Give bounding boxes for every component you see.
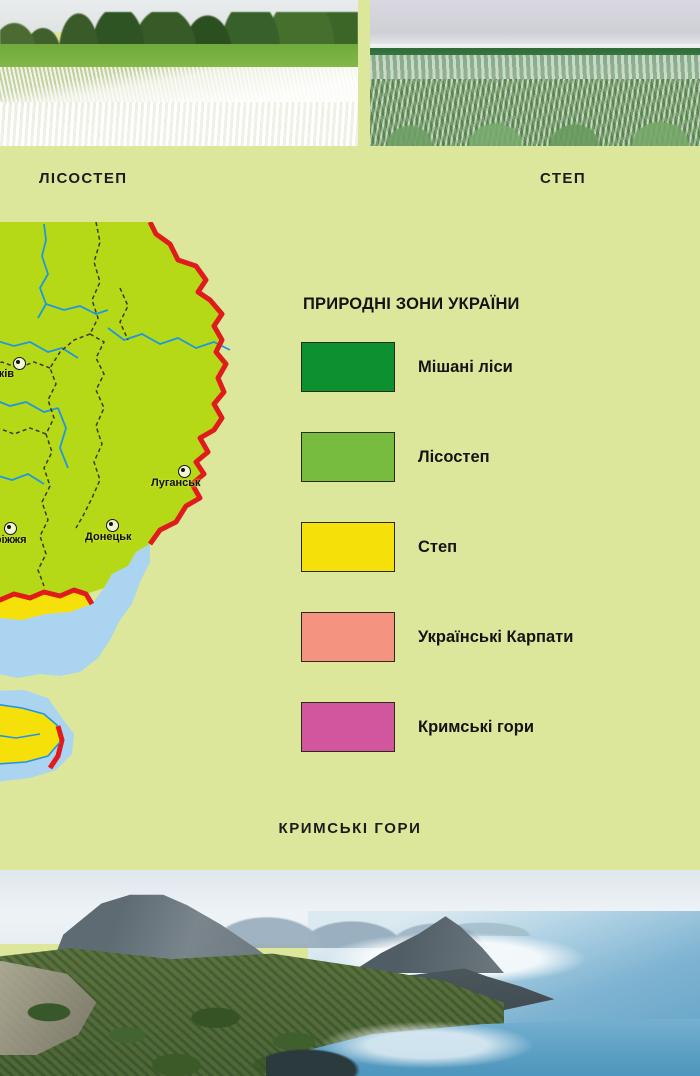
- legend-item-crimean-mountains[interactable]: Кримські гори: [301, 702, 681, 752]
- natural-zones-map-of-ukraine[interactable]: рків оріжжя Луганськ Донецьк: [0, 222, 256, 802]
- steppe-grass-tufts: [370, 102, 700, 146]
- legend-item-forest-steppe[interactable]: Лісостеп: [301, 432, 681, 482]
- legend-label-crimean-mountains: Кримські гори: [418, 718, 534, 737]
- legend-item-steppe[interactable]: Степ: [301, 522, 681, 572]
- crimea-foreground-rocks: [266, 1047, 364, 1076]
- map-land-green: [0, 222, 226, 600]
- legend-title: ПРИРОДНІ ЗОНИ УКРАЇНИ: [303, 295, 681, 314]
- map-svg: [0, 222, 256, 802]
- legend-swatch-mixed-forests: [301, 342, 395, 392]
- legend-label-mixed-forests: Мішані ліси: [418, 358, 513, 377]
- crimean-mountains-photo: [0, 870, 700, 1076]
- top-photo-row: [0, 0, 700, 146]
- legend-label-forest-steppe: Лісостеп: [418, 448, 490, 467]
- legend-label-steppe: Степ: [418, 538, 457, 557]
- forest-steppe-photo: [0, 0, 358, 146]
- caption-crimean-mountains: КРИМСЬКІ ГОРИ: [0, 820, 700, 837]
- legend-item-mixed-forests[interactable]: Мішані ліси: [301, 342, 681, 392]
- legend-swatch-crimean-mountains: [301, 702, 395, 752]
- steppe-photo: [370, 0, 700, 146]
- city-label-kharkiv: рків: [0, 368, 14, 380]
- legend-item-ukrainian-carpathians[interactable]: Українські Карпати: [301, 612, 681, 662]
- city-marker-kharkiv[interactable]: [13, 357, 26, 370]
- legend-swatch-ukrainian-carpathians: [301, 612, 395, 662]
- caption-forest-steppe: ЛІСОСТЕП: [39, 170, 127, 187]
- city-label-luhansk: Луганськ: [151, 477, 201, 489]
- legend-swatch-forest-steppe: [301, 432, 395, 482]
- legend-label-ukrainian-carpathians: Українські Карпати: [418, 628, 573, 647]
- city-label-donetsk: Донецьк: [85, 531, 131, 543]
- map-legend: ПРИРОДНІ ЗОНИ УКРАЇНИ Мішані ліси Лісост…: [301, 295, 681, 792]
- caption-steppe: СТЕП: [540, 170, 586, 187]
- city-label-zaporizhzhia: оріжжя: [0, 534, 27, 546]
- steppe-sky: [370, 0, 700, 47]
- forest-steppe-feather-grass-foreground: [0, 102, 358, 146]
- legend-swatch-steppe: [301, 522, 395, 572]
